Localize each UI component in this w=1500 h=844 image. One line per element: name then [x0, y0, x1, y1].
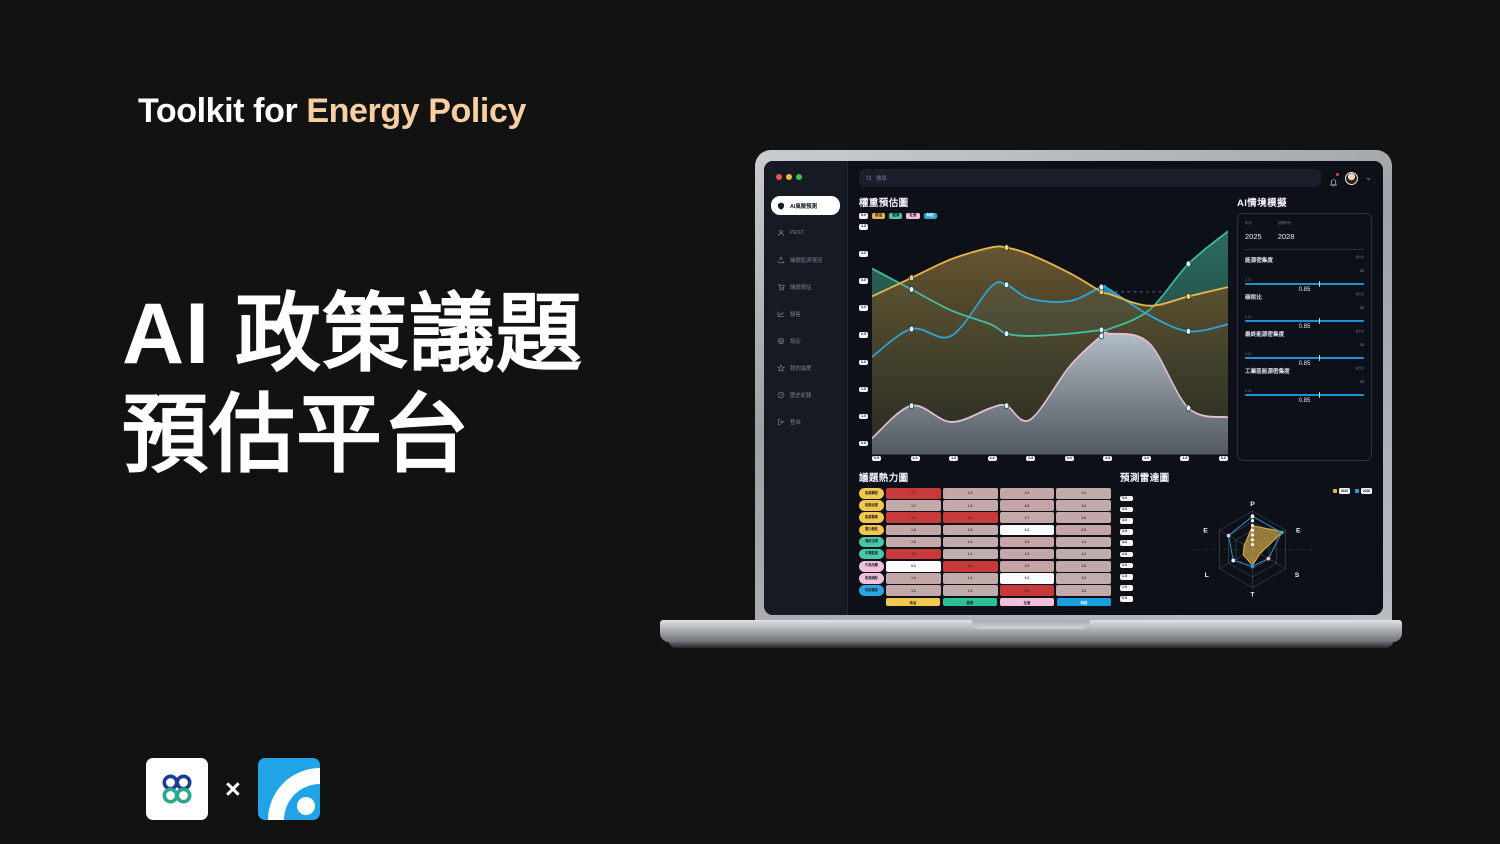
- notification-badge: [1336, 173, 1339, 176]
- interlocking-rings-logo: [146, 758, 208, 820]
- laptop-base: [660, 620, 1402, 642]
- sidebar-label: 設定: [790, 337, 801, 345]
- page-eyebrow: Toolkit for Energy Policy: [138, 92, 526, 131]
- sidebar-item-settings[interactable]: 設定: [771, 331, 840, 350]
- x-tick: 2.0: [988, 456, 997, 462]
- slider-min: 0.01: [1245, 315, 1364, 319]
- heatmap-row: 市場監管4.61.11.91.2: [859, 549, 1111, 560]
- legend-item-economy[interactable]: 經濟: [889, 213, 902, 219]
- lower-row: 議題熱力圖 能源轉型4.71.92.01.3能源治理1.71.52.61.6能源…: [859, 470, 1372, 606]
- heatmap-cell[interactable]: 2.0: [1000, 488, 1055, 499]
- panel-title-heatmap: 議題熱力圖: [859, 470, 1111, 484]
- slider-max: 最大值20: [1356, 367, 1364, 388]
- heatmap-cell[interactable]: 1.9: [1000, 549, 1055, 560]
- heatmap-cell[interactable]: 1.6: [943, 525, 998, 536]
- svg-text:S: S: [1295, 572, 1300, 579]
- scenario-years: 年份 2025 目標年份 2028: [1245, 220, 1364, 250]
- dashboard-content: 搜尋: [848, 161, 1383, 615]
- radar-y-tick: 4.0: [1120, 518, 1133, 524]
- y-tick: 1.5: [859, 387, 868, 393]
- x-tick: 1.5: [949, 456, 958, 462]
- gear-icon: [777, 337, 785, 345]
- slider-max: 最大值20: [1356, 330, 1364, 351]
- area-chart-canvas: [872, 222, 1228, 455]
- sidebar-label: 歷史紀錄: [790, 391, 812, 399]
- legend-item-society[interactable]: 社會: [906, 213, 919, 219]
- notification-bell-icon[interactable]: [1329, 174, 1338, 183]
- heatmap-row-label: 市場監管: [859, 549, 884, 560]
- heatmap-cell[interactable]: 1.5: [886, 585, 941, 596]
- heatmap-row-label: 能源憲章: [859, 512, 884, 523]
- radar-legend-2028[interactable]: 2028: [1355, 488, 1372, 494]
- user-icon: [777, 229, 785, 237]
- heatmap-cell[interactable]: 4.6: [1000, 585, 1055, 596]
- y-tick: 4.0: [859, 251, 868, 257]
- radar-y-tick: 5.0: [1120, 496, 1133, 502]
- search-placeholder: 搜尋: [876, 174, 887, 182]
- heatmap-row: 能源轉型4.71.92.01.3: [859, 488, 1111, 499]
- heatmap-legend-chip[interactable]: 政治: [886, 598, 940, 606]
- eyebrow-accent: Energy Policy: [306, 92, 526, 130]
- panel-scenario: AI情境模擬 年份 2025 目標年份 2028: [1237, 195, 1372, 461]
- sidebar-label: 議題監測現況: [790, 256, 822, 264]
- y-tick: 3.5: [859, 278, 868, 284]
- x-tick: 1.0: [911, 456, 920, 462]
- slider-3[interactable]: 最終能源密集度 最大值20 0.01 0.85: [1245, 330, 1364, 367]
- radar-y-tick: 1.5: [1120, 574, 1133, 580]
- heatmap-cell[interactable]: 2.4: [1000, 537, 1055, 548]
- star-icon: [777, 364, 785, 372]
- sidebar: AI風險預測 PEST 議題監測現況 議題預估: [764, 161, 848, 615]
- heatmap-row-label: 能源轉型: [859, 488, 884, 499]
- sidebar-label: PEST: [790, 230, 804, 236]
- radar-legend: 2025 2028: [1120, 488, 1372, 494]
- slider-track[interactable]: [1245, 320, 1364, 322]
- slider-track[interactable]: [1245, 394, 1364, 396]
- heatmap-cell[interactable]: 1.8: [886, 525, 941, 536]
- heatmap-cell[interactable]: 1.4: [1056, 537, 1111, 548]
- window-zoom-button[interactable]: [796, 174, 802, 180]
- logo-separator: ×: [225, 776, 241, 803]
- sidebar-item-monitoring[interactable]: 議題監測現況: [771, 250, 840, 269]
- heatmap-cell[interactable]: 1.2: [1056, 549, 1111, 560]
- sidebar-item-pest[interactable]: PEST: [771, 223, 840, 242]
- heatmap-row: 能源調配1.91.30.21.0: [859, 573, 1111, 584]
- slider-max: 最大值20: [1356, 256, 1364, 277]
- svg-text:P: P: [1250, 501, 1255, 508]
- radar-y-tick: 3.0: [1120, 540, 1133, 546]
- heatmap-cell[interactable]: 1.7: [1000, 512, 1055, 523]
- heatmap-cell[interactable]: 4.5: [943, 561, 998, 572]
- panel-weight-chart: 權重預估圖 5.0 政治 經濟 社會 科技 4.5: [859, 195, 1228, 461]
- radar-y-axis: 5.04.54.03.53.02.52.01.51.00.5: [1120, 495, 1133, 606]
- svg-text:T: T: [1250, 591, 1255, 598]
- heatmap-legend-chip[interactable]: 社會: [1000, 598, 1054, 606]
- panel-radar: 預測雷達圖 2025 2028 5.04.54.03.53.02.52.01.5…: [1120, 470, 1372, 606]
- shield-icon: [777, 202, 785, 210]
- x-tick: 2.5: [1026, 456, 1035, 462]
- heatmap-cell[interactable]: 1.4: [943, 537, 998, 548]
- chart-plot-area: 4.5 4.0 3.5 3.0 2.5 2.0 1.5 1.0 0.5: [859, 222, 1228, 455]
- x-tick: 0.5: [872, 456, 881, 462]
- heatmap-row: 科技躍進1.51.34.61.5: [859, 585, 1111, 596]
- heatmap-cell[interactable]: 1.6: [886, 537, 941, 548]
- page-title-line-2: 預估平台: [122, 385, 583, 486]
- year-from-value: 2025: [1245, 232, 1262, 241]
- y-tick: 4.5: [859, 224, 868, 230]
- slider-label: 碳稅比: [1245, 293, 1262, 301]
- heatmap-cell[interactable]: 2.6: [1000, 500, 1055, 511]
- signal-arc-logo: [258, 758, 320, 820]
- scenario-card: 年份 2025 目標年份 2028 能源密集度: [1237, 213, 1372, 461]
- radar-y-tick: 4.5: [1120, 507, 1133, 513]
- heatmap-row-label: 能源調配: [859, 573, 884, 584]
- sidebar-item-favorites[interactable]: 我的最愛: [771, 358, 840, 377]
- heatmap-row-label: 能源治理: [859, 500, 884, 511]
- eyebrow-plain: Toolkit for: [138, 92, 306, 130]
- heatmap-row-label: 行為改變: [859, 561, 884, 572]
- heatmap-row-label: 通用法規: [859, 537, 884, 548]
- panel-title-radar: 預測雷達圖: [1120, 470, 1372, 484]
- heatmap-cell[interactable]: 0.2: [1000, 525, 1055, 536]
- svg-text:E: E: [1296, 527, 1301, 534]
- sidebar-item-logout[interactable]: 登出: [771, 412, 840, 431]
- heatmap-row: 能源治理1.71.52.61.6: [859, 500, 1111, 511]
- panel-title-weight: 權重預估圖: [859, 195, 1228, 209]
- year-from[interactable]: 年份 2025: [1245, 220, 1262, 244]
- heatmap-cell[interactable]: 1.6: [1056, 500, 1111, 511]
- page-title-line-1: AI 政策議題: [122, 286, 583, 382]
- heatmap-legend-chip[interactable]: 科技: [1057, 598, 1111, 606]
- laptop-mockup: AI風險預測 PEST 議題監測現況 議題預估: [660, 150, 1402, 660]
- slider-label: 最終能源密集度: [1245, 330, 1284, 338]
- year-to[interactable]: 目標年份 2028: [1278, 220, 1295, 244]
- slider-max: 最大值20: [1356, 293, 1364, 314]
- heatmap-cell[interactable]: 4.6: [886, 549, 941, 560]
- sidebar-label: AI風險預測: [790, 202, 817, 210]
- x-tick: 4.0: [1142, 456, 1151, 462]
- panel-heatmap: 議題熱力圖 能源轉型4.71.92.01.3能源治理1.71.52.61.6能源…: [859, 470, 1111, 606]
- heatmap-cell[interactable]: 2.5: [1056, 525, 1111, 536]
- y-tick: 0.5: [859, 441, 868, 447]
- chevron-down-icon[interactable]: [1365, 175, 1372, 182]
- sidebar-label: 議題預估: [790, 283, 812, 291]
- x-tick: 3.5: [1103, 456, 1112, 462]
- logo-lockup: ×: [146, 758, 320, 820]
- x-axis-labels: 0.5 1.0 1.5 2.0 2.5 3.0 3.5 4.0 4.5 5.0: [859, 456, 1228, 462]
- slider-track[interactable]: [1245, 357, 1364, 359]
- heatmap-cell[interactable]: 4.7: [886, 488, 941, 499]
- radar-canvas: PESTLE: [1133, 495, 1372, 606]
- heatmap-cell[interactable]: 1.5: [943, 500, 998, 511]
- scenario-sliders: 能源密集度 最大值20 0.01 0.85 碳稅比 最大值20 0.01 0.8…: [1245, 256, 1364, 404]
- y-axis-top-tick: 5.0: [859, 213, 868, 219]
- slider-label: 工業區能源密集度: [1245, 367, 1290, 375]
- sidebar-label: 銷售: [790, 310, 801, 318]
- heatmap-legend: 政治經濟社會科技: [859, 598, 1111, 606]
- slider-4[interactable]: 工業區能源密集度 最大值20 0.01 0.85: [1245, 367, 1364, 404]
- heatmap-row-label: 電力韌性: [859, 525, 884, 536]
- poster-canvas: Toolkit for Energy Policy AI 政策議題 預估平台 ×: [0, 0, 1500, 844]
- radar-y-tick: 3.5: [1120, 529, 1133, 535]
- laptop-lid: AI風險預測 PEST 議題監測現況 議題預估: [755, 150, 1392, 628]
- svg-text:L: L: [1205, 572, 1209, 579]
- radar-y-tick: 2.5: [1120, 552, 1133, 558]
- slider-1[interactable]: 能源密集度 最大值20 0.01 0.85: [1245, 256, 1364, 293]
- heatmap-cell[interactable]: 1.9: [886, 573, 941, 584]
- heatmap-cell[interactable]: 1.1: [943, 549, 998, 560]
- radar-y-tick: 1.0: [1120, 585, 1133, 591]
- year-from-label: 年份: [1245, 220, 1262, 225]
- radar-legend-2025[interactable]: 2025: [1333, 488, 1350, 494]
- heatmap-cell[interactable]: 0.3: [886, 561, 941, 572]
- heatmap-grid: 能源轉型4.71.92.01.3能源治理1.71.52.61.6能源憲章4.54…: [859, 488, 1111, 596]
- y-tick: 1.0: [859, 414, 868, 420]
- slider-2[interactable]: 碳稅比 最大值20 0.01 0.85: [1245, 293, 1364, 330]
- avatar[interactable]: [1345, 172, 1358, 185]
- topbar: 搜尋: [848, 161, 1383, 195]
- sidebar-item-ai-risk[interactable]: AI風險預測: [771, 196, 840, 215]
- heatmap-cell[interactable]: 2.5: [1000, 561, 1055, 572]
- sidebar-item-forecast[interactable]: 議題預估: [771, 277, 840, 296]
- heatmap-cell[interactable]: 4.5: [886, 512, 941, 523]
- y-axis-labels: 4.5 4.0 3.5 3.0 2.5 2.0 1.5 1.0 0.5: [859, 222, 872, 455]
- clock-icon: [777, 391, 785, 399]
- window-close-button[interactable]: [776, 174, 782, 180]
- heatmap-cell[interactable]: 1.8: [1056, 561, 1111, 572]
- slider-min: 0.01: [1245, 389, 1364, 393]
- heatmap-legend-chip[interactable]: 經濟: [943, 598, 997, 606]
- slider-min: 0.01: [1245, 352, 1364, 356]
- panel-title-scenario: AI情境模擬: [1237, 195, 1372, 209]
- y-tick: 2.5: [859, 332, 868, 338]
- legend-item-technology[interactable]: 科技: [924, 213, 937, 219]
- heatmap-row: 電力韌性1.81.60.22.5: [859, 525, 1111, 536]
- dashboard-screen: AI風險預測 PEST 議題監測現況 議題預估: [764, 161, 1383, 615]
- y-tick: 3.0: [859, 305, 868, 311]
- slider-track[interactable]: [1245, 283, 1364, 285]
- heatmap-cell[interactable]: 1.3: [943, 585, 998, 596]
- upload-icon: [777, 256, 785, 264]
- slider-label: 能源密集度: [1245, 256, 1273, 264]
- radar-plot-area: 5.04.54.03.53.02.52.01.51.00.5 PESTLE: [1120, 495, 1372, 606]
- heatmap-cell[interactable]: 1.3: [943, 573, 998, 584]
- search-icon: [866, 175, 872, 181]
- heatmap-row: 能源憲章4.54.41.71.8: [859, 512, 1111, 523]
- sidebar-label: 登出: [790, 418, 801, 426]
- sidebar-item-history[interactable]: 歷史紀錄: [771, 385, 840, 404]
- heatmap-cell[interactable]: 1.3: [1056, 488, 1111, 499]
- x-tick: 3.0: [1065, 456, 1074, 462]
- sidebar-item-sales[interactable]: 銷售: [771, 304, 840, 323]
- y-tick: 2.0: [859, 360, 868, 366]
- heatmap-row: 通用法規1.61.42.41.4: [859, 537, 1111, 548]
- heatmap-cell[interactable]: 1.9: [943, 488, 998, 499]
- heatmap-row-label: 科技躍進: [859, 585, 884, 596]
- slider-value: 0.85: [1245, 398, 1364, 404]
- heatmap-cell[interactable]: 1.0: [1056, 573, 1111, 584]
- heatmap-cell[interactable]: 0.2: [1000, 573, 1055, 584]
- radar-y-tick: 2.0: [1120, 563, 1133, 569]
- heatmap-row: 行為改變0.34.52.51.8: [859, 561, 1111, 572]
- heatmap-cell[interactable]: 1.8: [1056, 512, 1111, 523]
- logout-icon: [777, 418, 785, 426]
- radar-y-tick: 0.5: [1120, 596, 1133, 602]
- dashboard-grid: 權重預估圖 5.0 政治 經濟 社會 科技 4.5: [848, 195, 1383, 615]
- slider-min: 0.01: [1245, 278, 1364, 282]
- chart-legend: 5.0 政治 經濟 社會 科技: [859, 213, 1228, 219]
- page-title: AI 政策議題 預估平台: [122, 284, 583, 487]
- year-to-value: 2028: [1278, 232, 1295, 241]
- x-tick: 4.5: [1180, 456, 1189, 462]
- legend-item-politics[interactable]: 政治: [872, 213, 885, 219]
- topbar-actions: [1329, 172, 1372, 185]
- cart-icon: [777, 283, 785, 291]
- search-input[interactable]: 搜尋: [859, 169, 1321, 187]
- window-minimize-button[interactable]: [786, 174, 792, 180]
- x-tick: 5.0: [1219, 456, 1228, 462]
- chart-line-icon: [777, 310, 785, 318]
- heatmap-cell[interactable]: 1.7: [886, 500, 941, 511]
- heatmap-cell[interactable]: 1.5: [1056, 585, 1111, 596]
- window-controls: [771, 172, 840, 196]
- heatmap-cell[interactable]: 4.4: [943, 512, 998, 523]
- year-to-label: 目標年份: [1278, 220, 1295, 225]
- sidebar-label: 我的最愛: [790, 364, 812, 372]
- svg-text:E: E: [1203, 527, 1208, 534]
